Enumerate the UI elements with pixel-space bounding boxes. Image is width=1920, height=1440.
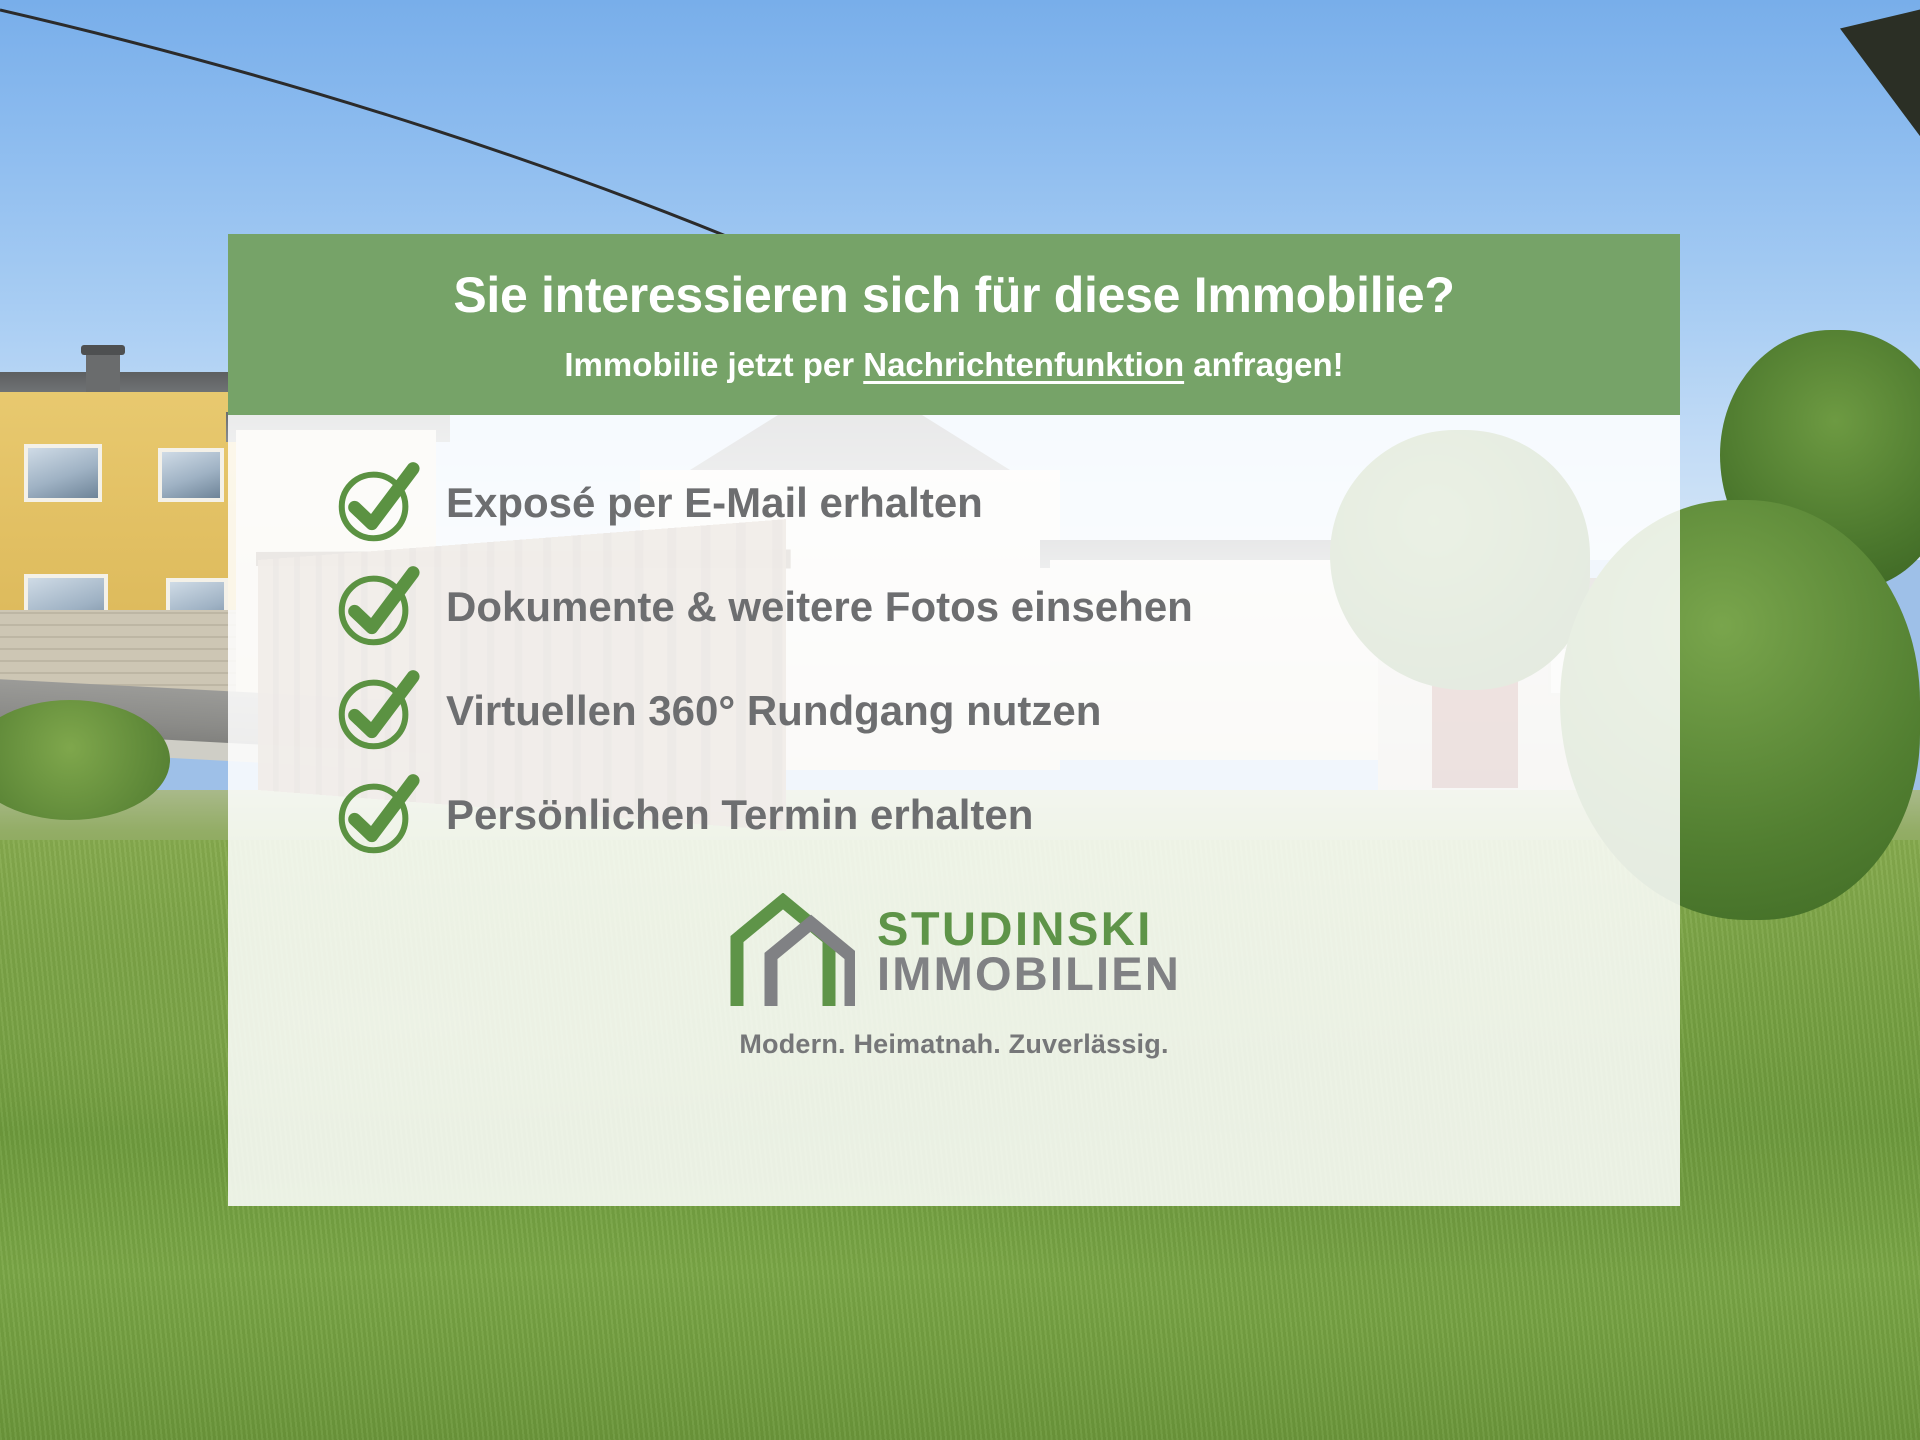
list-item-label: Persönlichen Termin erhalten [446, 791, 1033, 839]
logo-wordmark: STUDINSKI IMMOBILIEN [877, 907, 1181, 996]
interest-overlay-card: Sie interessieren sich für diese Immobil… [228, 234, 1680, 1206]
subtitle-text-before: Immobilie jetzt per [564, 346, 863, 383]
list-item: Virtuellen 360° Rundgang nutzen [334, 659, 1680, 763]
subtitle-text-after: anfragen! [1184, 346, 1344, 383]
check-circle-icon [334, 460, 420, 546]
house-outline-logo-icon [727, 893, 855, 1011]
nachrichtenfunktion-link[interactable]: Nachrichtenfunktion [863, 346, 1184, 383]
list-item: Exposé per E-Mail erhalten [334, 451, 1680, 555]
list-item: Persönlichen Termin erhalten [334, 763, 1680, 867]
card-title: Sie interessieren sich für diese Immobil… [268, 268, 1640, 323]
check-circle-icon [334, 668, 420, 754]
list-item-label: Virtuellen 360° Rundgang nutzen [446, 687, 1101, 735]
list-item-label: Exposé per E-Mail erhalten [446, 479, 983, 527]
window [158, 448, 224, 502]
logo-line-immobilien: IMMOBILIEN [877, 952, 1181, 997]
window [24, 444, 102, 502]
logo-line-studinski: STUDINSKI [877, 907, 1181, 952]
logo-main-row: STUDINSKI IMMOBILIEN [727, 893, 1181, 1011]
check-circle-icon [334, 772, 420, 858]
chimney [86, 352, 120, 394]
list-item-label: Dokumente & weitere Fotos einsehen [446, 583, 1193, 631]
card-header: Sie interessieren sich für diese Immobil… [228, 234, 1680, 415]
company-logo: STUDINSKI IMMOBILIEN Modern. Heimatnah. … [228, 893, 1680, 1060]
card-body: Exposé per E-Mail erhalten Dokumente & w… [228, 415, 1680, 1206]
logo-tagline: Modern. Heimatnah. Zuverlässig. [739, 1029, 1168, 1060]
check-circle-icon [334, 564, 420, 650]
card-subtitle: Immobilie jetzt per Nachrichtenfunktion … [268, 345, 1640, 385]
benefits-checklist: Exposé per E-Mail erhalten Dokumente & w… [228, 451, 1680, 867]
list-item: Dokumente & weitere Fotos einsehen [334, 555, 1680, 659]
